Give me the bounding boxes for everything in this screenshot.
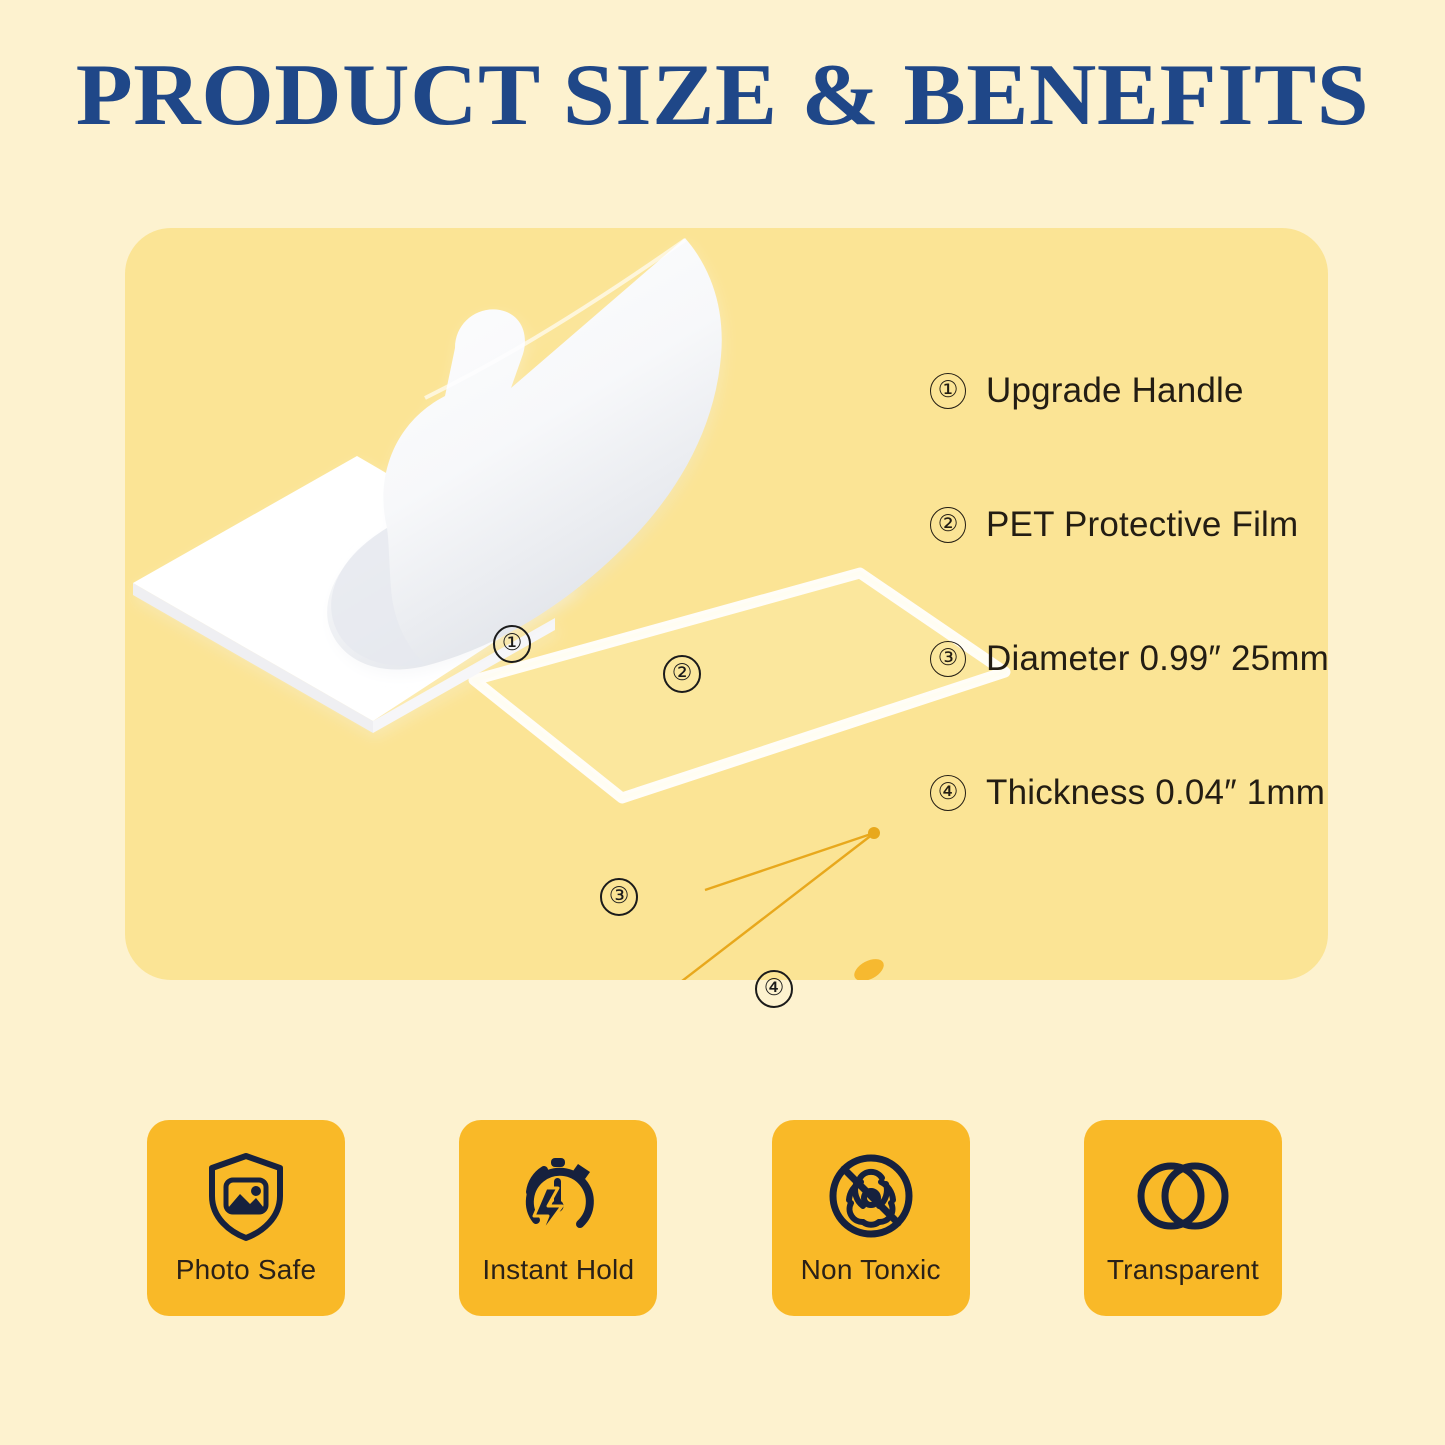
legend-label-1: Upgrade Handle [986,371,1244,411]
badge-label-non-toxic: Non Tonxic [801,1254,941,1286]
legend-marker-2: ② [930,507,966,543]
page-title: PRODUCT SIZE & BENEFITS [0,52,1445,140]
product-detail-panel: ① ② ③ ④ ① Upgrade Handle ② PET Protectiv… [125,228,1328,980]
illustration-marker-3: ③ [600,878,638,916]
illustration-marker-1: ① [493,625,531,663]
badge-label-photo-safe: Photo Safe [176,1254,317,1286]
pet-protective-film [200,238,722,688]
badge-instant-hold: Instant Hold [459,1120,657,1316]
legend-label-4: Thickness 0.04″ 1mm [986,773,1325,813]
illustration-marker-4: ④ [755,970,793,1008]
badge-label-instant-hold: Instant Hold [482,1254,634,1286]
feature-badge-row: Photo Safe Instant Hold [147,1120,1282,1316]
legend-item-pet-protective-film: ② PET Protective Film [930,502,1320,548]
photo-shield-icon [194,1144,298,1248]
illustration-marker-2: ② [663,655,701,693]
legend-marker-3: ③ [930,641,966,677]
legend-marker-4: ④ [930,775,966,811]
thickness-edge-marker [851,955,888,980]
badge-label-transparent: Transparent [1107,1254,1259,1286]
legend-item-upgrade-handle: ① Upgrade Handle [930,368,1320,414]
legend-label-2: PET Protective Film [986,505,1298,545]
legend-label-3: Diameter 0.99″ 25mm [986,639,1329,679]
overlapping-circles-icon [1131,1144,1235,1248]
badge-non-toxic: Non Tonxic [772,1120,970,1316]
feature-legend-list: ① Upgrade Handle ② PET Protective Film ③… [930,368,1320,816]
legend-item-diameter: ③ Diameter 0.99″ 25mm [930,636,1320,682]
stopwatch-bolt-icon [506,1144,610,1248]
badge-transparent: Transparent [1084,1120,1282,1316]
no-biohazard-icon [819,1144,923,1248]
badge-photo-safe: Photo Safe [147,1120,345,1316]
legend-item-thickness: ④ Thickness 0.04″ 1mm [930,770,1320,816]
legend-marker-1: ① [930,373,966,409]
